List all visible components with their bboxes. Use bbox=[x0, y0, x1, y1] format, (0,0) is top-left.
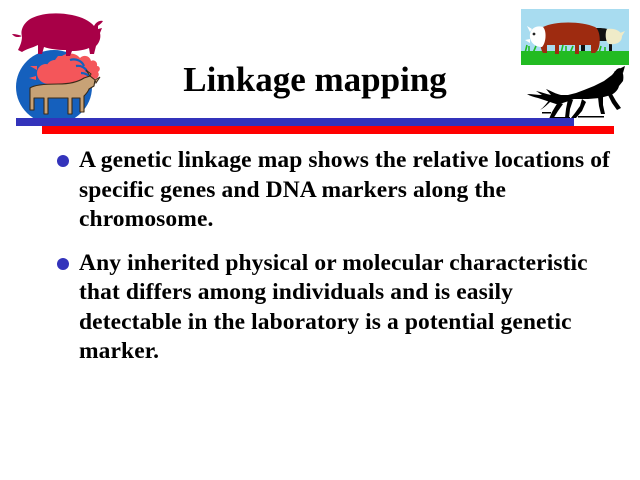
bullet-text: Any inherited physical or molecular char… bbox=[79, 249, 599, 367]
list-item: Any inherited physical or molecular char… bbox=[52, 249, 624, 367]
divider-bar-blue bbox=[16, 118, 574, 126]
slide-canvas: Linkage mapping bbox=[0, 0, 640, 480]
page-title: Linkage mapping bbox=[110, 59, 520, 101]
livestock-logo bbox=[6, 4, 110, 126]
galloping-horse-silhouette bbox=[522, 66, 630, 124]
slide-header: Linkage mapping bbox=[0, 0, 640, 140]
cattle-in-pasture-photo bbox=[521, 9, 629, 65]
pig-icon bbox=[12, 13, 103, 56]
divider-bar-red bbox=[42, 126, 614, 134]
list-item: A genetic linkage map shows the relative… bbox=[52, 146, 624, 235]
bullet-dot-icon bbox=[57, 258, 69, 270]
bullet-text: A genetic linkage map shows the relative… bbox=[79, 146, 624, 235]
slide-body: A genetic linkage map shows the relative… bbox=[52, 146, 624, 381]
bullet-dot-icon bbox=[57, 155, 69, 167]
horse-icon bbox=[527, 66, 625, 119]
